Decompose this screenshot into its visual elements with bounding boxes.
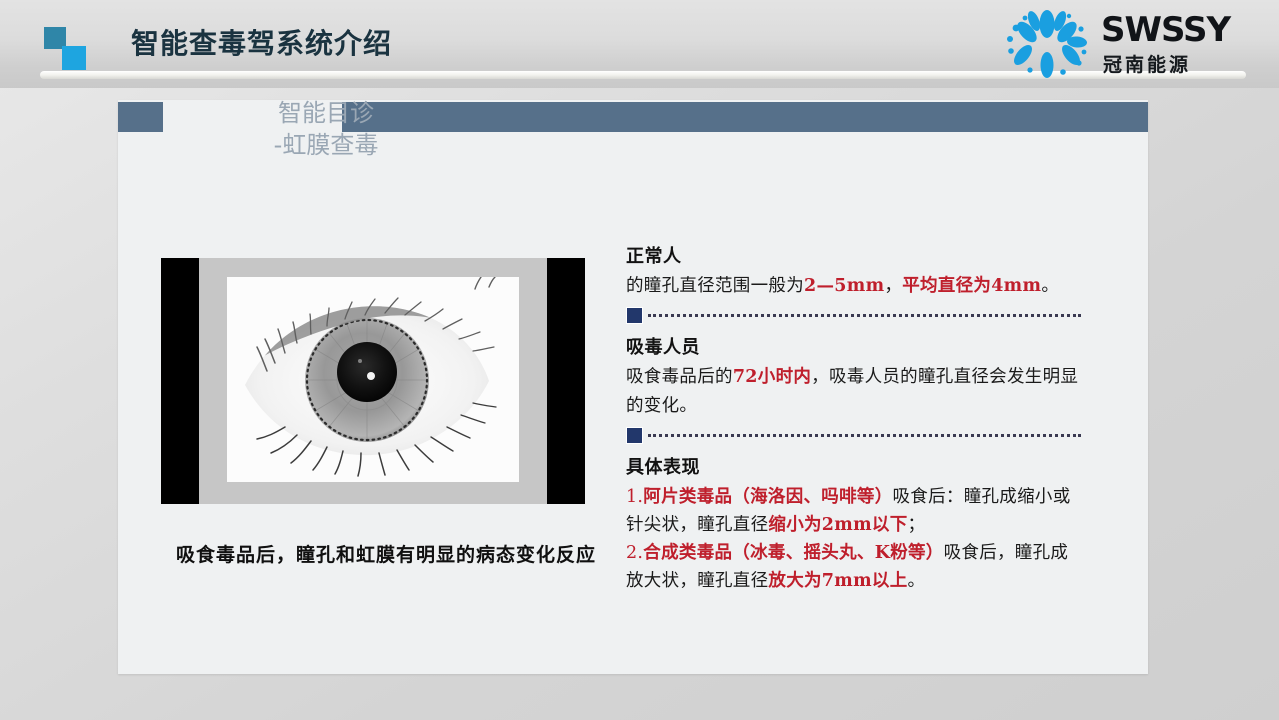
info-block-normal: 正常人 的瞳孔直径范围一般为2—5mm，平均直径为4mm。 [626,242,1081,300]
text-highlight: 缩小为2mm以下 [768,515,907,535]
block-heading: 吸毒人员 [626,333,1081,359]
text-highlight: 阿片类毒品（海洛因、吗啡等） [643,487,892,507]
text-plain: ； [908,515,926,535]
symptom-item-1: 1.阿片类毒品（海洛因、吗啡等）吸食后：瞳孔成缩小或针尖状，瞳孔直径缩小为2mm… [626,483,1081,539]
text-highlight: 72小时内 [733,367,811,387]
section-bar-left [118,102,163,132]
text-plain: 吸食毒品后的 [626,367,733,387]
separator-square-icon [626,427,643,444]
page-title: 智能查毒驾系统介绍 [131,22,392,62]
text-plain: ， [884,276,902,296]
slide-header: 智能查毒驾系统介绍 [0,0,1279,88]
item-number: 2. [626,543,643,563]
decorative-squares-logo [44,27,108,73]
block-body: 的瞳孔直径范围一般为2—5mm，平均直径为4mm。 [626,272,1081,300]
section-bar-right [342,102,1148,132]
brand-name: SWSSY [1101,10,1230,50]
block-heading: 具体表现 [626,453,1081,479]
separator-dotted-line [648,314,1081,317]
brand-logo: SWSSY 冠南能源 [1001,6,1261,82]
separator-1 [626,307,1081,329]
text-highlight: 放大为7mm以上 [768,571,907,591]
brand-subtitle: 冠南能源 [1103,50,1191,77]
content-panel: 智能目诊 -虹膜查毒 [118,100,1148,674]
eye-photo-image [227,277,519,482]
eye-illustration-icon [227,277,519,482]
separator-square-icon [626,307,643,324]
symptom-item-2: 2.合成类毒品（冰毒、摇头丸、K粉等）吸食后，瞳孔成放大状，瞳孔直径放大为7mm… [626,539,1081,595]
square-light-icon [62,46,86,70]
eye-photo-frame [161,258,585,504]
text-plain: 。 [908,571,926,591]
text-column: 正常人 的瞳孔直径范围一般为2—5mm，平均直径为4mm。 吸毒人员 吸食毒品后… [626,242,1081,595]
text-plain: 。 [1041,276,1059,296]
text-highlight: 2—5mm [804,276,884,296]
separator-dotted-line [648,434,1081,437]
separator-2 [626,427,1081,449]
slide-root: 智能查毒驾系统介绍 [0,0,1279,720]
block-body: 吸食毒品后的72小时内，吸毒人员的瞳孔直径会发生明显的变化。 [626,363,1081,420]
block-heading: 正常人 [626,242,1081,268]
info-block-drug-user: 吸毒人员 吸食毒品后的72小时内，吸毒人员的瞳孔直径会发生明显的变化。 [626,333,1081,420]
water-droplet-petals-emblem-icon [1001,8,1093,80]
section-title-line1: 智能目诊 [278,99,374,127]
info-block-symptoms: 具体表现 1.阿片类毒品（海洛因、吗啡等）吸食后：瞳孔成缩小或针尖状，瞳孔直径缩… [626,453,1081,595]
section-title-line2: -虹膜查毒 [196,130,456,162]
text-highlight: 平均直径为4mm [902,276,1041,296]
text-highlight: 合成类毒品（冰毒、摇头丸、K粉等） [643,543,943,563]
section-title: 智能目诊 -虹膜查毒 [196,98,456,161]
text-plain: 的瞳孔直径范围一般为 [626,276,804,296]
photo-caption: 吸食毒品后，瞳孔和虹膜有明显的病态变化反应 [136,540,636,567]
eye-photo-matte [199,258,547,504]
item-number: 1. [626,487,643,507]
